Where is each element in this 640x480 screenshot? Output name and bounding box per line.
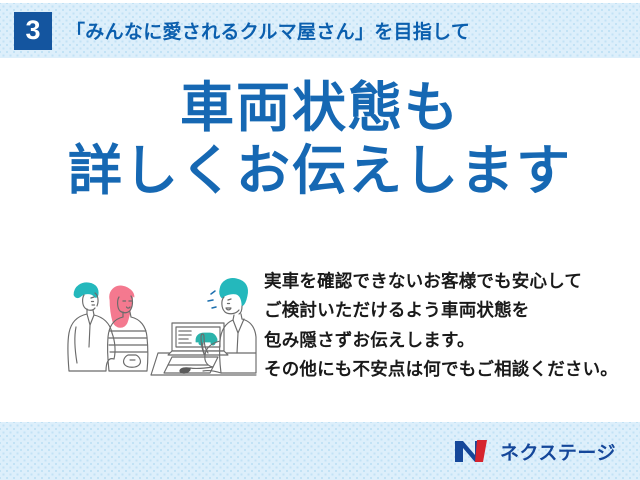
- body-copy-line: 実車を確認できないお客様でも安心して: [264, 267, 618, 296]
- header-band: 3 「みんなに愛されるクルマ屋さん」を目指して: [0, 3, 640, 58]
- body-copy-line: ご検討いただけるよう車両状態を: [264, 296, 618, 325]
- brand-logo: ネクステージ: [453, 438, 616, 465]
- header-title: 「みんなに愛されるクルマ屋さん」を目指して: [66, 17, 470, 44]
- headline-line-2: 詳しくお伝えします: [0, 143, 640, 200]
- footer-band: ネクステージ: [0, 422, 640, 480]
- brand-logo-text: ネクステージ: [500, 438, 616, 465]
- headline-line-1: 車両状態も: [0, 80, 640, 137]
- promo-banner: 3 「みんなに愛されるクルマ屋さん」を目指して 車両状態も 詳しくお伝えします: [0, 0, 640, 480]
- body-copy: 実車を確認できないお客様でも安心して ご検討いただけるよう車両状態を 包み隠さず…: [264, 267, 618, 385]
- page-title: 車両状態も 詳しくお伝えします: [0, 80, 640, 200]
- consultation-illustration: [58, 267, 258, 385]
- nextage-n-logo-icon: [453, 438, 493, 464]
- illustration-svg: [58, 267, 258, 385]
- body-copy-line: 包み隠さずお伝えします。: [264, 326, 618, 355]
- main-content: 車両状態も 詳しくお伝えします: [0, 58, 640, 422]
- body-copy-line: その他にも不安点は何でもご相談ください。: [264, 355, 618, 384]
- step-number-badge: 3: [14, 12, 52, 50]
- lower-row: 実車を確認できないお客様でも安心して ご検討いただけるよう車両状態を 包み隠さず…: [0, 263, 640, 418]
